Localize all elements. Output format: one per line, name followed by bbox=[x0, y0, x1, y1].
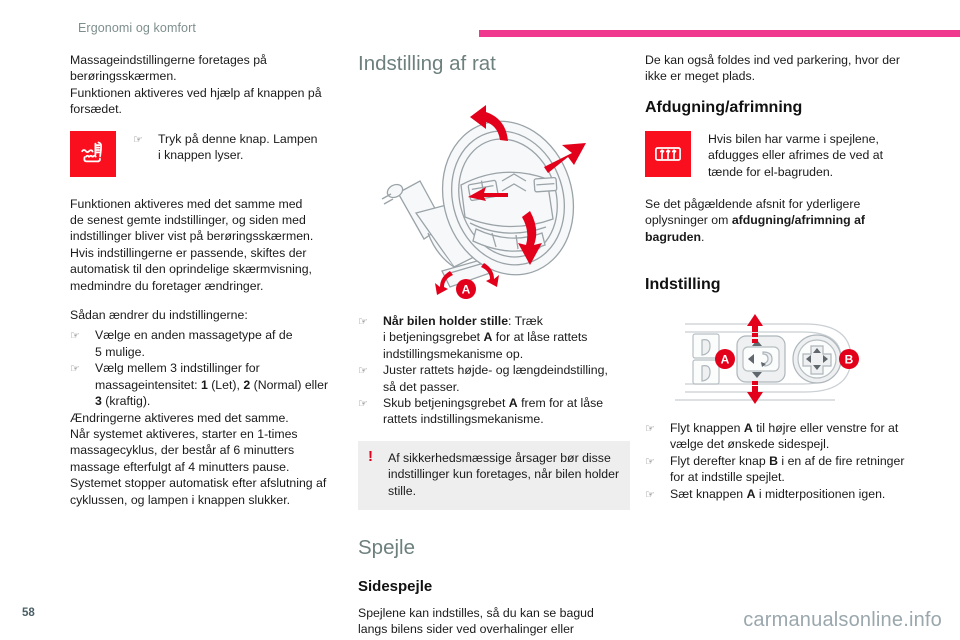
mirror-instructions-list: ☞Flyt knappen A til højre eller venstre … bbox=[645, 420, 917, 502]
hand-pointer-icon: ☞ bbox=[70, 361, 88, 377]
steering-instructions-list: ☞Når bilen holder stille: Træki betjenin… bbox=[358, 313, 630, 428]
column-middle: Indstilling af rat .ln { fill:none; stro… bbox=[358, 52, 630, 640]
massage-intro-paragraph: Massageindstillingerne foretages påberør… bbox=[70, 52, 342, 118]
safety-note-text: Af sikkerhedsmæssige årsager bør dissein… bbox=[388, 450, 620, 499]
mirror-control-switch-figure: .m { fill:#fbfcfc; stroke:#b8bfc3; strok… bbox=[645, 312, 917, 408]
massage-cycle-paragraph: Ændringerne aktiveres med det samme.Når … bbox=[70, 410, 342, 508]
column-right: De kan også foldes ind ved parkering, hv… bbox=[645, 52, 917, 515]
svg-text:A: A bbox=[721, 353, 730, 367]
svg-text:B: B bbox=[845, 353, 854, 367]
hand-pointer-icon: ☞ bbox=[645, 487, 663, 503]
column-left: Massageindstillingerne foretages påberør… bbox=[70, 52, 342, 521]
massage-howto-list: ☞Vælge en anden massagetype af de5 mulig… bbox=[70, 327, 342, 409]
watermark: carmanualsonline.info bbox=[743, 609, 942, 632]
massage-seat-icon bbox=[70, 131, 116, 177]
section-title-steering: Indstilling af rat bbox=[358, 52, 630, 76]
list-item: ☞Flyt knappen A til højre eller venstre … bbox=[645, 420, 917, 453]
subsection-title-side-mirrors: Sidespejle bbox=[358, 577, 630, 596]
list-item: ☞Når bilen holder stille: Træki betjenin… bbox=[358, 313, 630, 362]
hand-pointer-icon: ☞ bbox=[70, 328, 88, 344]
fold-mirrors-paragraph: De kan også foldes ind ved parkering, hv… bbox=[645, 52, 917, 85]
massage-activation-paragraph: Funktionen aktiveres med det samme medde… bbox=[70, 196, 342, 294]
svg-text:A: A bbox=[462, 283, 471, 297]
list-item: ☞Sæt knappen A i midterpositionen igen. bbox=[645, 486, 917, 502]
refer-section-paragraph: Se det pågældende afsnit for yderligereo… bbox=[645, 196, 917, 245]
hand-pointer-icon: ☞ bbox=[358, 314, 376, 330]
heading-setting: Indstilling bbox=[645, 275, 917, 294]
defrost-pictogram-row: Hvis bilen har varme i spejlene,afdugges… bbox=[645, 131, 917, 183]
section-title-mirrors: Spejle bbox=[358, 536, 630, 560]
massage-howto-lead: Sådan ændrer du indstillingerne: bbox=[70, 307, 342, 323]
manual-page: Ergonomi og komfort Massageindstillinger… bbox=[0, 0, 960, 640]
list-item: ☞Flyt derefter knap B i en af de fire re… bbox=[645, 453, 917, 486]
massage-button-instruction: ☞Tryk på denne knap. Lampeni knappen lys… bbox=[133, 131, 342, 164]
steering-wheel-adjustment-figure: .ln { fill:none; stroke:#9aa3a8; stroke-… bbox=[358, 93, 630, 303]
hand-pointer-icon: ☞ bbox=[358, 396, 376, 412]
list-item: ☞Vælge en anden massagetype af de5 mulig… bbox=[70, 327, 342, 360]
list-item: ☞Juster rattets højde- og længdeindstill… bbox=[358, 362, 630, 395]
list-item: ☞Tryk på denne knap. Lampeni knappen lys… bbox=[133, 131, 342, 164]
hand-pointer-icon: ☞ bbox=[358, 363, 376, 379]
massage-button-pictogram-row: ☞Tryk på denne knap. Lampeni knappen lys… bbox=[70, 131, 342, 183]
hand-pointer-icon: ☞ bbox=[133, 132, 151, 148]
chapter-title: Ergonomi og komfort bbox=[78, 21, 196, 35]
header-rule bbox=[479, 30, 960, 37]
hand-pointer-icon: ☞ bbox=[645, 421, 663, 437]
list-item: ☞Vælg mellem 3 indstillinger formassagei… bbox=[70, 360, 342, 409]
mirrors-intro-paragraph: Spejlene kan indstilles, så du kan se ba… bbox=[358, 605, 630, 640]
page-number: 58 bbox=[22, 607, 35, 619]
warning-exclamation-icon: ! bbox=[368, 449, 373, 465]
rear-window-defrost-icon bbox=[645, 131, 691, 177]
hand-pointer-icon: ☞ bbox=[645, 454, 663, 470]
defrost-instruction-text: Hvis bilen har varme i spejlene,afdugges… bbox=[708, 131, 917, 180]
safety-note-box: ! Af sikkerhedsmæssige årsager bør disse… bbox=[358, 441, 630, 510]
list-item: ☞Skub betjeningsgrebet A frem for at lås… bbox=[358, 395, 630, 428]
heading-demist: Afdugning/afrimning bbox=[645, 98, 917, 117]
